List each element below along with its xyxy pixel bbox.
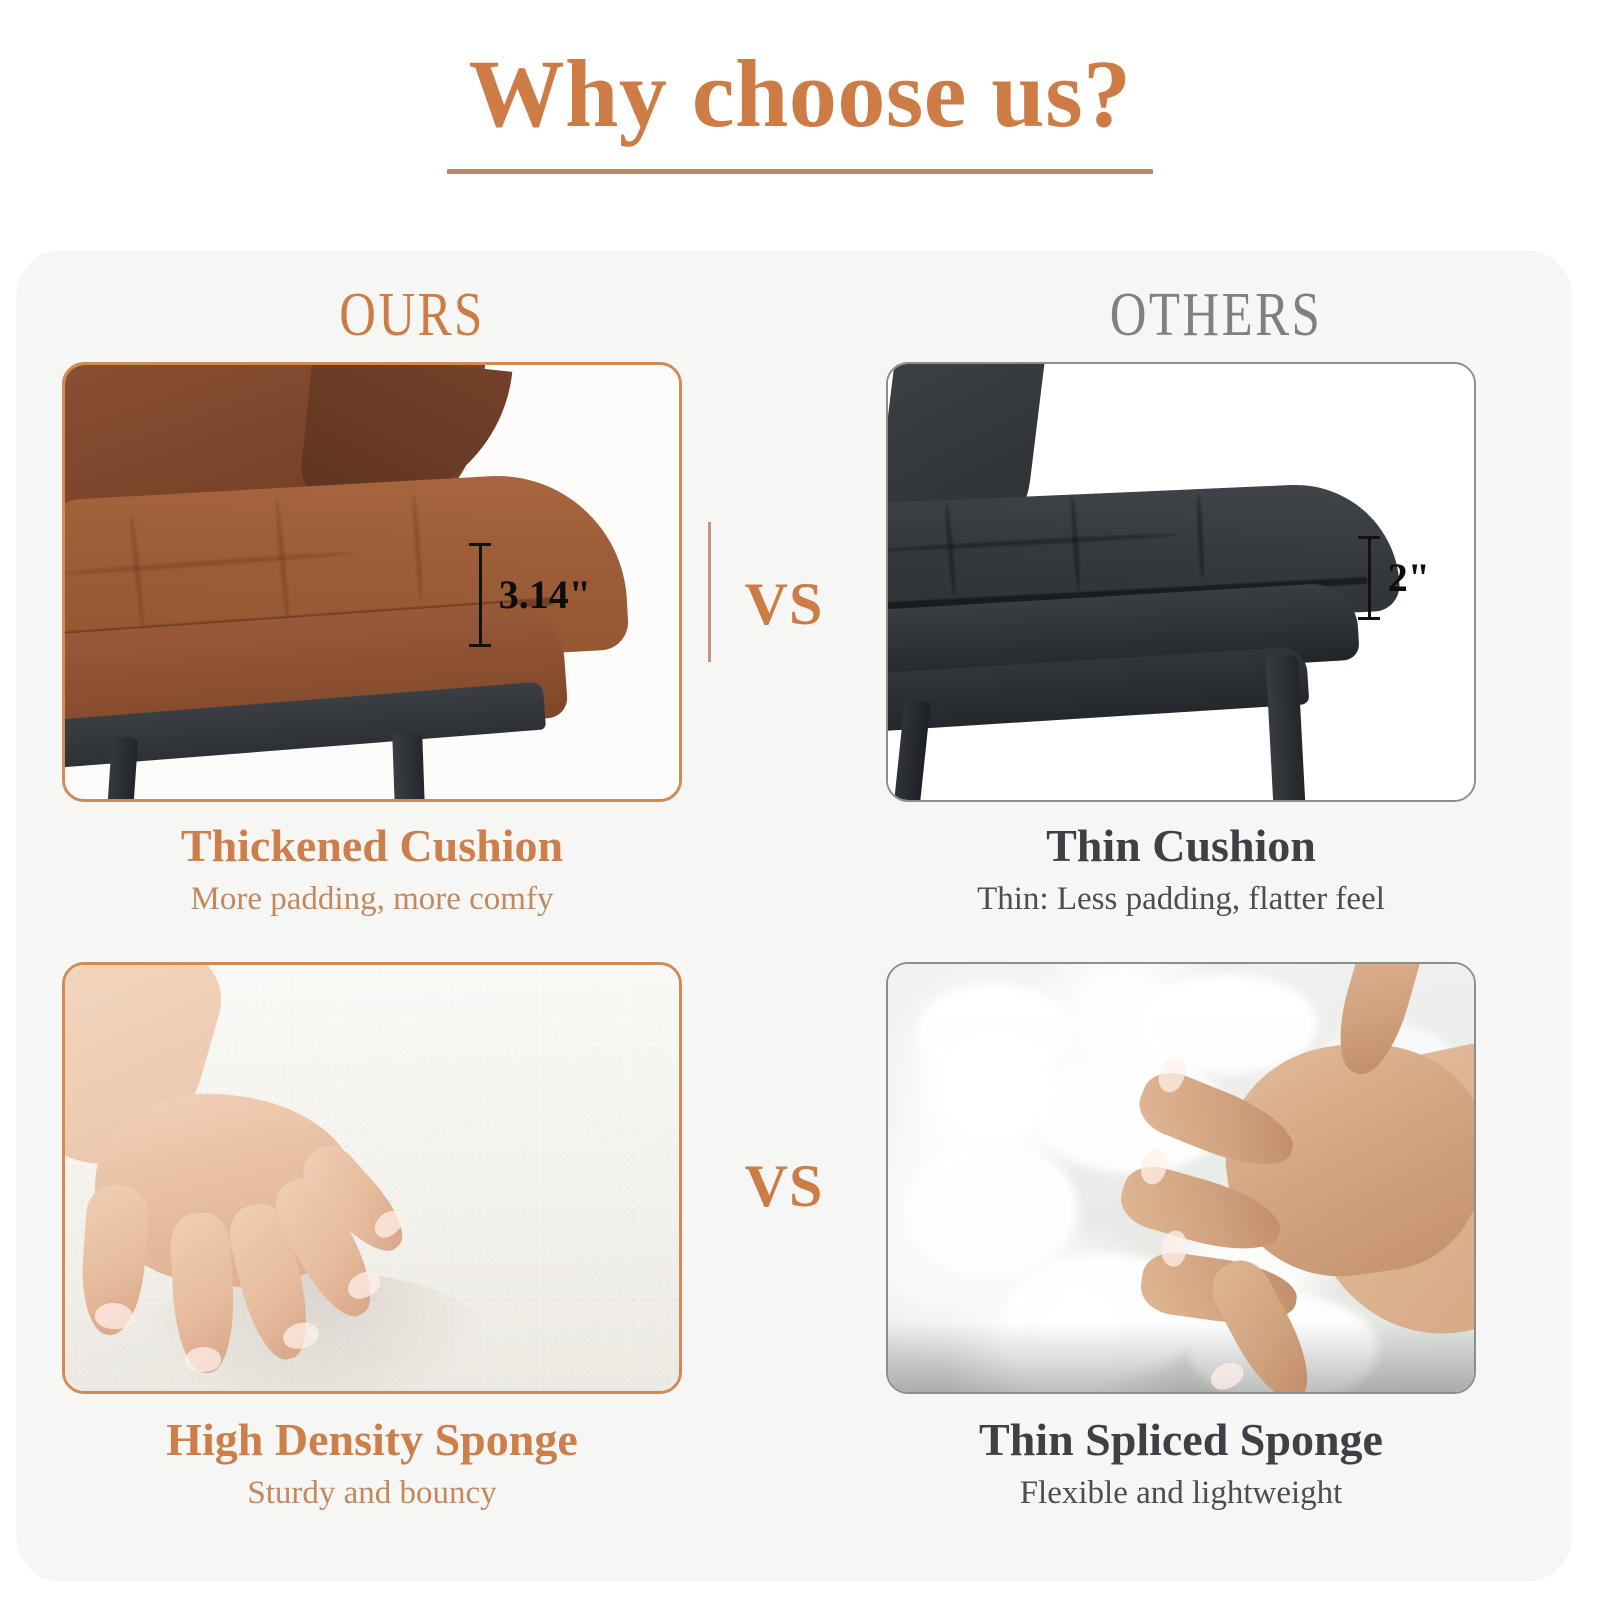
page-title: Why choose us? [468, 44, 1131, 145]
comparison-row-sponge: VS [16, 962, 1572, 1562]
dimension-bar-icon [1358, 536, 1380, 620]
column-header-others: OTHERS [1036, 272, 1397, 358]
dimension-bar-icon [469, 543, 491, 647]
caption-sub-ours-cushion: More padding, more comfy [62, 878, 682, 921]
hand-on-foam [65, 965, 495, 1375]
dimension-annotation-ours-cushion: 3.14" [469, 543, 591, 647]
caption-ours-sponge: High Density Sponge Sturdy and bouncy [62, 1412, 682, 1515]
foam-hand-image [65, 965, 679, 1391]
image-card-ours-cushion[interactable]: 3.14" [62, 362, 682, 802]
caption-sub-others-cushion: Thin: Less padding, flatter feel [886, 878, 1476, 921]
vs-label-row2: VS [684, 1152, 884, 1221]
dimension-annotation-others-cushion: 2" [1358, 536, 1430, 620]
cell-ours-cushion: 3.14" Thickened Cushion More padding, mo… [62, 362, 682, 802]
image-card-ours-sponge[interactable] [62, 962, 682, 1394]
dimension-value-ours-cushion: 3.14" [499, 575, 591, 615]
image-card-others-sponge[interactable] [886, 962, 1476, 1394]
caption-sub-others-sponge: Flexible and lightweight [886, 1472, 1476, 1515]
column-header-ours: OURS [264, 272, 559, 358]
caption-others-sponge: Thin Spliced Sponge Flexible and lightwe… [886, 1412, 1476, 1515]
cell-ours-sponge: High Density Sponge Sturdy and bouncy [62, 962, 682, 1394]
caption-title-ours-cushion: Thickened Cushion [62, 818, 682, 874]
caption-sub-ours-sponge: Sturdy and bouncy [62, 1472, 682, 1515]
image-card-others-cushion[interactable]: 2" [886, 362, 1476, 802]
title-underline [447, 169, 1153, 174]
caption-title-ours-sponge: High Density Sponge [62, 1412, 682, 1468]
cell-others-cushion: 2" Thin Cushion Thin: Less padding, flat… [886, 362, 1476, 802]
caption-title-others-sponge: Thin Spliced Sponge [886, 1412, 1476, 1468]
fiberfill-hand-image [888, 964, 1474, 1392]
caption-others-cushion: Thin Cushion Thin: Less padding, flatter… [886, 818, 1476, 921]
header: Why choose us? [0, 0, 1600, 232]
vs-label-row1: VS [684, 570, 884, 639]
hand-on-fiberfill [1058, 964, 1474, 1392]
comparison-panel: OURS OTHERS VS [16, 250, 1572, 1582]
comparison-row-cushion: VS [16, 362, 1572, 922]
column-headers: OURS OTHERS [16, 272, 1572, 358]
dimension-value-others-cushion: 2" [1388, 558, 1430, 598]
caption-ours-cushion: Thickened Cushion More padding, more com… [62, 818, 682, 921]
cell-others-sponge: Thin Spliced Sponge Flexible and lightwe… [886, 962, 1476, 1394]
caption-title-others-cushion: Thin Cushion [886, 818, 1476, 874]
infographic-page: Why choose us? OURS OTHERS VS [0, 0, 1600, 1600]
